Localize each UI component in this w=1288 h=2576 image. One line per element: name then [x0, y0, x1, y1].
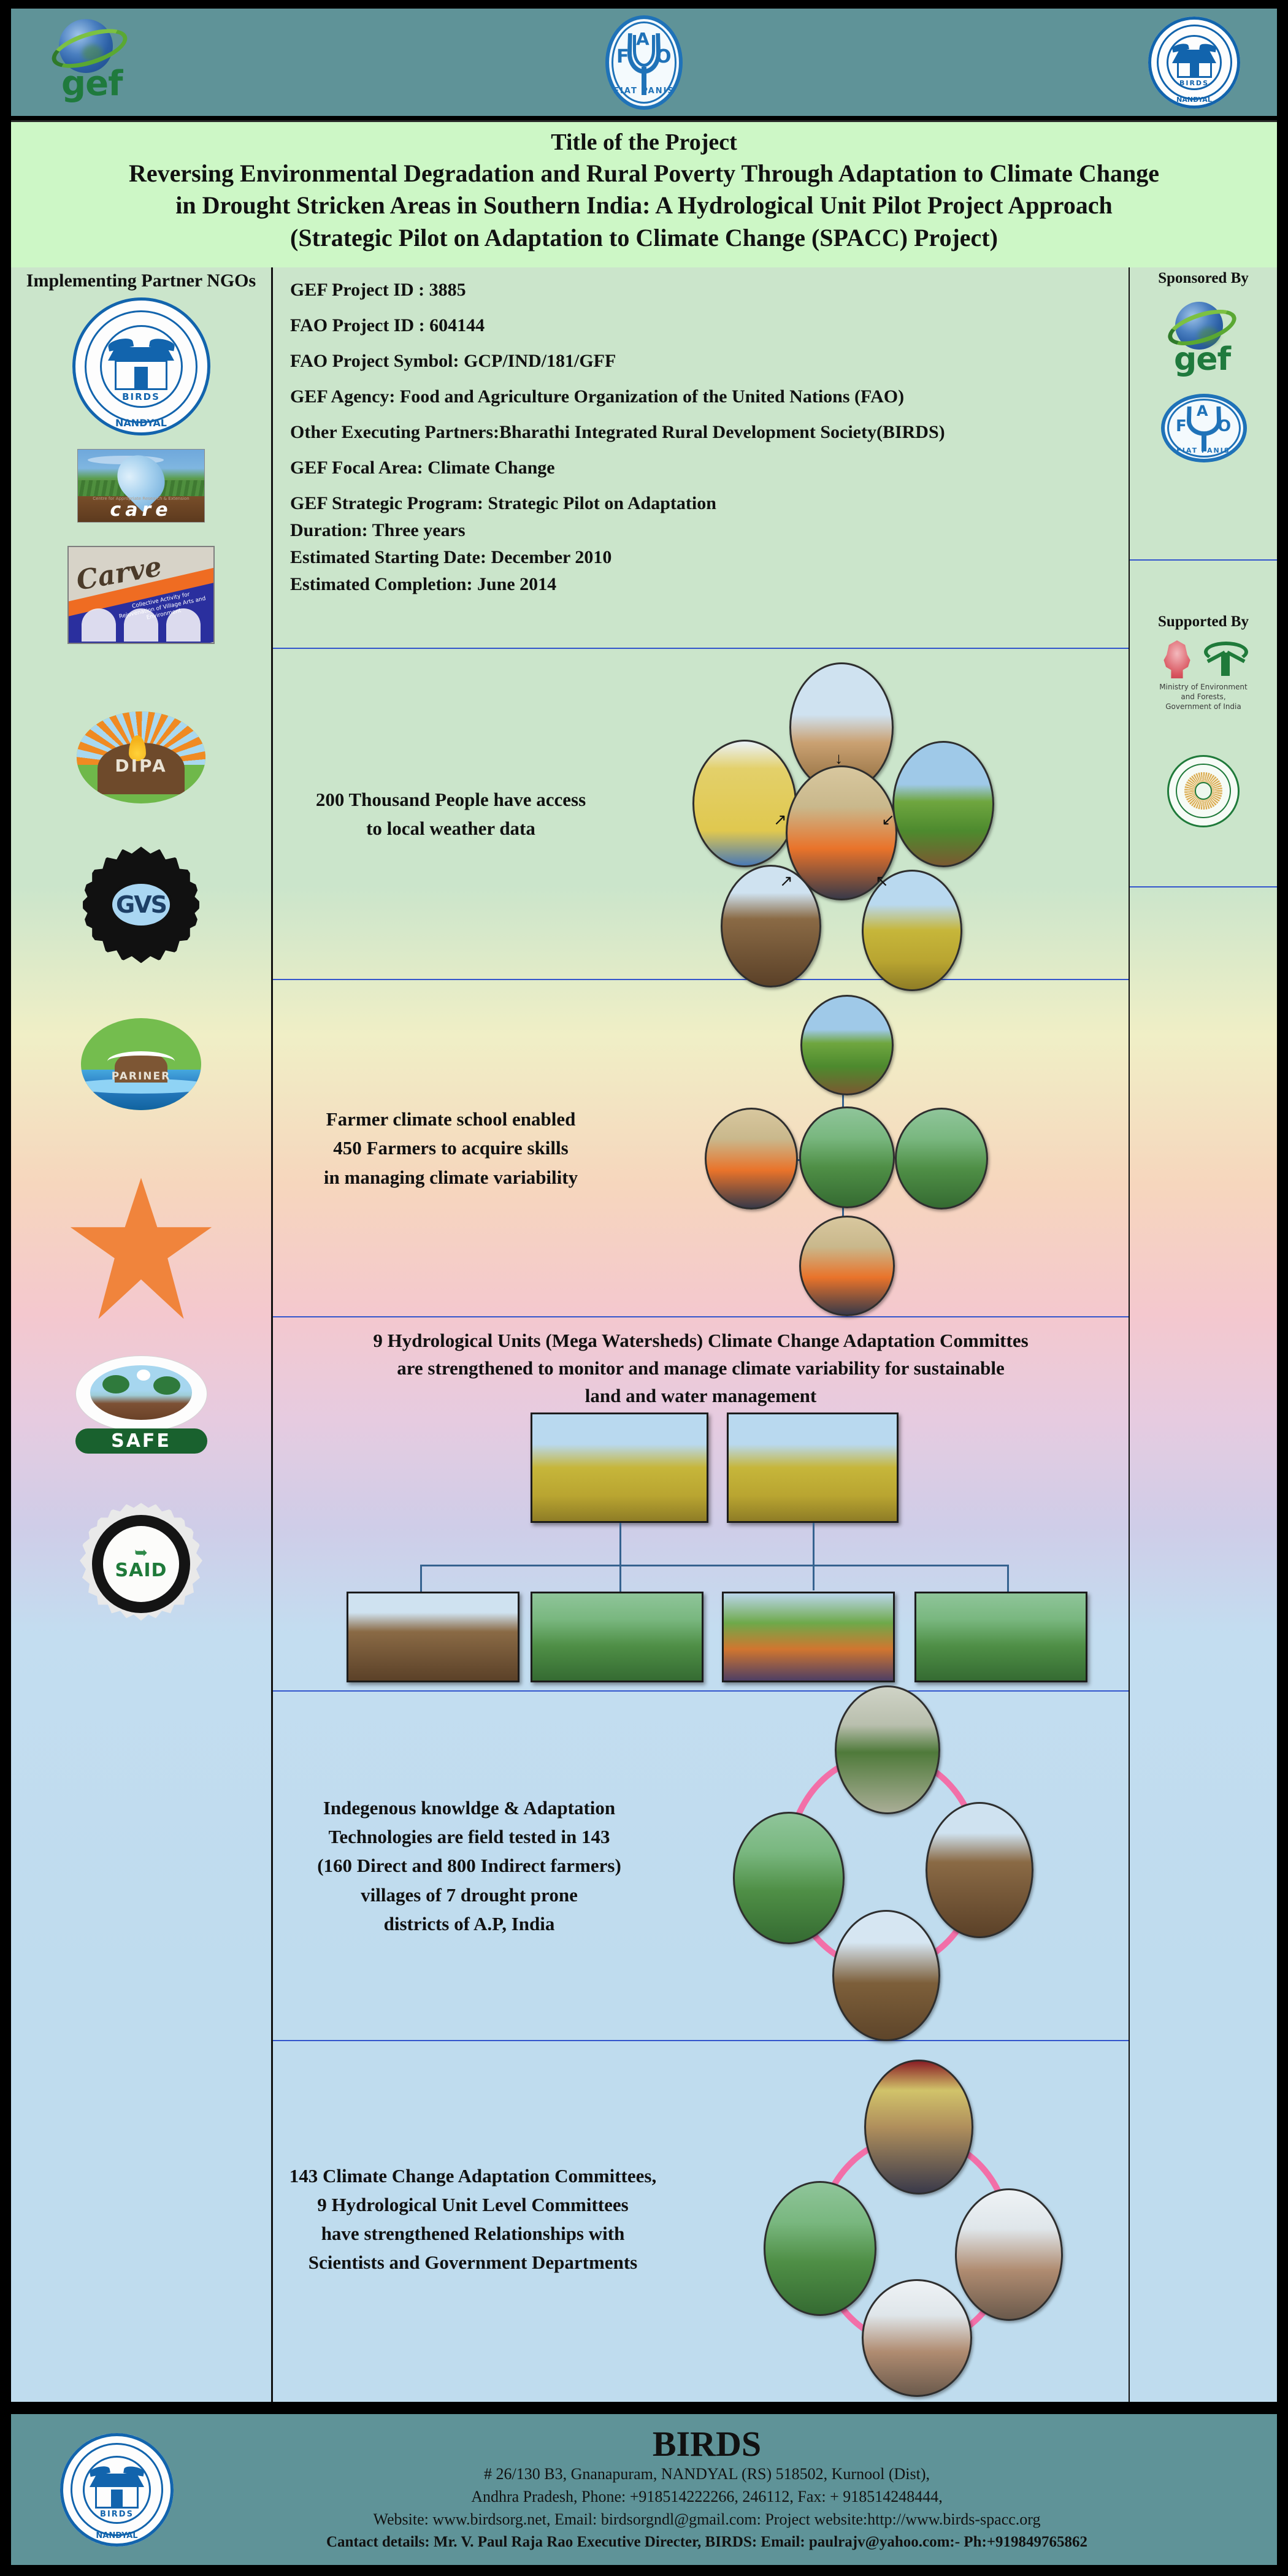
fao-letter-o: O [656, 46, 672, 67]
photo-seed-treatment [926, 1802, 1033, 1938]
indigenous-photo-cluster [665, 1692, 1132, 2041]
supported-by-heading: Supported By [1158, 613, 1249, 631]
footer-address: # 26/130 B3, Gnanapuram, NANDYAL (RS) 51… [174, 2463, 1240, 2486]
arrow-down-icon: ↓ [835, 751, 843, 767]
connector-v1 [619, 1523, 621, 1566]
detail-row: Other Executing Partners:Bharathi Integr… [290, 423, 1129, 442]
photo-water-collection [722, 1592, 895, 1682]
house-roof-icon [108, 347, 174, 361]
panel-text-line: 450 Farmers to acquire skills [279, 1133, 623, 1162]
photo-weather-station-2 [892, 741, 994, 867]
fao-letter-o: O [1217, 417, 1231, 435]
hydro-photo-cluster [273, 1410, 1129, 1674]
panel-text-line: Farmer climate school enabled [279, 1105, 623, 1133]
safe-logo: SAFE [75, 1355, 207, 1454]
said-core: ➥ SAID [103, 1526, 179, 1602]
left-logo-care: Centre for Appropriate Research & Extens… [77, 449, 205, 523]
left-logo-safe: SAFE [75, 1355, 207, 1454]
header-logo-bar: gef F A O FIAT PANIS BIRDS NANDYAL [11, 9, 1277, 116]
fao-letter-a: A [636, 29, 650, 49]
gef-wordmark: gef [1174, 343, 1230, 375]
dipa-wordmark: DIPA [77, 756, 205, 776]
panel-text-line: 9 Hydrological Units (Mega Watersheds) C… [273, 1327, 1129, 1355]
farmer-panel-text: Farmer climate school enabled 450 Farmer… [279, 1105, 623, 1191]
safe-outer-oval [75, 1355, 207, 1432]
detail-row: FAO Project Symbol: GCP/IND/181/GFF [290, 352, 1129, 370]
hydrological-units-panel: 9 Hydrological Units (Mega Watersheds) C… [273, 1317, 1129, 1692]
moef-caption-line-3: Government of India [1159, 702, 1247, 711]
right-gef-logo-wrap: gef [1160, 299, 1246, 385]
sponsored-by-heading: Sponsored By [1158, 270, 1249, 287]
photo-compost-making [347, 1592, 519, 1682]
panel-text-line: 143 Climate Change Adaptation Committees… [277, 2161, 669, 2190]
tree-icon [153, 1376, 180, 1395]
arrow-upright-icon: ↗ [780, 873, 793, 889]
weather-photo-cluster: ↓ ↗ ↙ ↗ ↖ [629, 649, 1095, 980]
star-logo [67, 1178, 215, 1319]
left-logo-pariner: PARINER [81, 1018, 201, 1110]
fao-motto: FIAT PANIS [598, 86, 690, 96]
detail-row: GEF Agency: Food and Agriculture Organiz… [290, 388, 1129, 406]
gvs-wordmark: GVS [110, 881, 173, 928]
photo-weather-board [692, 740, 797, 867]
bird-icon: ➥ [134, 1547, 148, 1560]
seal-location: NANDYAL [60, 2531, 174, 2540]
left-logo-gvs: GVS [83, 846, 199, 963]
left-logo-birds: BIRDS NANDYAL [72, 297, 210, 435]
committees-photo-cluster [678, 2041, 1132, 2397]
left-logo-star [67, 1178, 215, 1319]
right-sidebar-divider-1 [1130, 559, 1277, 561]
moef-caption-line-2: and Forests, [1159, 692, 1247, 702]
farmer-photo-cluster [641, 980, 1107, 1317]
left-sidebar: Implementing Partner NGOs BIRDS NANDYAL [11, 267, 273, 2402]
hydro-panel-text: 9 Hydrological Units (Mega Watersheds) C… [273, 1317, 1129, 1410]
pariner-logo: PARINER [81, 1018, 201, 1110]
body-wrapper: Implementing Partner NGOs BIRDS NANDYAL [11, 267, 1277, 2402]
panel-text-line: (160 Direct and 800 Indirect farmers) [279, 1851, 659, 1880]
environment-tree-icon [1204, 642, 1248, 677]
footer-text-block: BIRDS # 26/130 B3, Gnanapuram, NANDYAL (… [174, 2426, 1277, 2553]
detail-row: Duration: Three years [290, 521, 1129, 540]
farming-scene-icon [90, 1365, 192, 1419]
panel-text-line: 9 Hydrological Unit Level Committees [277, 2190, 669, 2219]
photo-harvest-heap [531, 1413, 708, 1523]
said-wordmark: SAID [115, 1560, 167, 1581]
poster-root: gef F A O FIAT PANIS BIRDS NANDYAL [0, 0, 1288, 2576]
title-line-3: (Strategic Pilot on Adaptation to Climat… [290, 222, 998, 255]
photo-paddy-farmer [914, 1592, 1087, 1682]
moef-caption-line-1: Ministry of Environment [1159, 682, 1247, 692]
photo-training-session [705, 1108, 798, 1209]
panel-text-line: land and water management [273, 1382, 1129, 1410]
person-icon [82, 608, 116, 642]
arrow-upleft-icon: ↖ [875, 873, 889, 889]
panel-text-line: in managing climate variability [279, 1163, 623, 1192]
panel-text-line: to local weather data [279, 814, 623, 843]
moef-logo-row [1159, 640, 1248, 678]
left-logo-carve: Carve Collective Activity for Rejuvenati… [67, 546, 215, 644]
left-logo-dipa: DIPA [77, 711, 205, 803]
photo-farmer-portrait [733, 1812, 845, 1944]
house-door-icon [1190, 63, 1199, 79]
house-door-icon [111, 2490, 123, 2509]
center-column: GEF Project ID : 3885 FAO Project ID : 6… [273, 267, 1130, 2402]
right-sidebar: Sponsored By gef F A [1130, 267, 1277, 2402]
connector-drop-1 [420, 1565, 422, 1594]
adaptation-committees-panel: 143 Climate Change Adaptation Committees… [273, 2041, 1129, 2397]
detail-row: GEF Strategic Program: Strategic Pilot o… [290, 494, 1129, 513]
dipa-logo: DIPA [77, 711, 205, 803]
seal-wordmark: BIRDS [60, 2510, 174, 2519]
panel-text-line: districts of A.P, India [279, 1909, 659, 1938]
right-fao-logo-wrap: F A O FIAT PANIS [1157, 394, 1249, 467]
photo-training-hall [955, 2188, 1063, 2321]
fao-letter-a: A [1197, 402, 1208, 420]
tree-icon [102, 1375, 129, 1393]
gef-wordmark: gef [61, 67, 122, 101]
safe-wordmark: SAFE [75, 1428, 207, 1454]
moef-caption: Ministry of Environment and Forests, Gov… [1159, 682, 1247, 712]
title-label: Title of the Project [551, 128, 737, 158]
detail-row: FAO Project ID : 604144 [290, 316, 1129, 335]
ap-seal-core [1195, 782, 1212, 799]
footer-org-name: BIRDS [174, 2426, 1240, 2463]
birds-seal-sidebar: BIRDS NANDYAL [72, 297, 210, 435]
pariner-wordmark: PARINER [81, 1070, 201, 1083]
seal-wordmark: BIRDS [1148, 79, 1240, 87]
seal-location: NANDYAL [72, 417, 210, 429]
connector-bus [420, 1565, 1009, 1566]
photo-paddy-field [727, 1413, 899, 1523]
seal-wordmark: BIRDS [72, 391, 210, 402]
connector-drop-4 [1007, 1565, 1009, 1594]
detail-row: Estimated Completion: June 2014 [290, 575, 1129, 594]
indigenous-knowledge-panel: Indegenous knowldge & Adaptation Technol… [273, 1692, 1129, 2041]
right-sidebar-divider-2 [1130, 886, 1277, 887]
star-icon [67, 1178, 215, 1319]
arrow-right-icon: ↗ [773, 812, 787, 828]
india-emblem-icon [1159, 640, 1195, 678]
panel-text-line: villages of 7 drought prone [279, 1880, 659, 1909]
title-line-2: in Drought Stricken Areas in Southern In… [175, 190, 1113, 222]
panel-text-line: Indegenous knowldge & Adaptation [279, 1793, 659, 1822]
left-sidebar-heading: Implementing Partner NGOs [11, 270, 271, 291]
photo-ploughed-field [832, 1910, 940, 2041]
photo-field-gathering [800, 995, 894, 1095]
panel-text-line: have strengthened Relationships with [277, 2219, 669, 2248]
farmer-climate-school-panel: Farmer climate school enabled 450 Farmer… [273, 980, 1129, 1317]
fao-letter-f: F [1176, 417, 1187, 435]
indigenous-panel-text: Indegenous knowldge & Adaptation Technol… [279, 1793, 659, 1938]
title-line-1: Reversing Environmental Degradation and … [129, 158, 1159, 190]
panel-text-line: Technologies are field tested in 143 [279, 1822, 659, 1851]
footer-contact[interactable]: Cantact details: Mr. V. Paul Raja Rao Ex… [174, 2531, 1240, 2553]
photo-committee-dais [862, 2279, 972, 2397]
photo-public-meeting [864, 2060, 973, 2195]
fao-logo: F A O FIAT PANIS [598, 14, 690, 111]
connector-drop-2 [619, 1565, 621, 1594]
footer: BIRDS NANDYAL BIRDS # 26/130 B3, Gnanapu… [11, 2414, 1277, 2565]
photo-crop-inspection [895, 1108, 988, 1209]
photo-woman-in-paddy [799, 1106, 895, 1208]
photo-transplanting [531, 1592, 703, 1682]
birds-seal-footer: BIRDS NANDYAL [60, 2433, 174, 2547]
gef-logo: gef [1160, 299, 1246, 385]
photo-rain-gauge-reading [721, 865, 821, 987]
detail-row: GEF Focal Area: Climate Change [290, 459, 1129, 477]
weather-data-panel: 200 Thousand People have access to local… [273, 649, 1129, 980]
detail-row: GEF Project ID : 3885 [290, 281, 1129, 299]
panel-text-line: 200 Thousand People have access [279, 785, 623, 814]
fao-motto: FIAT PANIS [1157, 447, 1249, 454]
connector-v2 [813, 1523, 815, 1590]
footer-phone: Andhra Pradesh, Phone: +918514222266, 24… [174, 2486, 1240, 2509]
left-logo-said: ➥ SAID [80, 1503, 202, 1625]
house-door-icon [134, 367, 148, 390]
andhra-pradesh-seal [1167, 755, 1240, 827]
care-wordmark: care [78, 499, 204, 521]
committees-panel-text: 143 Climate Change Adaptation Committees… [277, 2161, 669, 2277]
panel-text-line: Scientists and Government Departments [277, 2248, 669, 2277]
photo-cotton-field [835, 1685, 940, 1814]
people-arc-icon [107, 1051, 175, 1071]
gef-logo: gef [48, 17, 140, 109]
footer-seal-wrap: BIRDS NANDYAL [60, 2433, 174, 2547]
care-logo: Centre for Appropriate Research & Extens… [77, 449, 205, 523]
fao-letter-f: F [616, 46, 629, 67]
gvs-logo: GVS [83, 846, 199, 963]
seal-location: NANDYAL [1148, 96, 1240, 104]
carve-logo: Carve Collective Activity for Rejuvenati… [67, 546, 215, 644]
footer-website[interactable]: Website: www.birdsorg.net, Email: birdso… [174, 2509, 1240, 2531]
birds-seal-header: BIRDS NANDYAL [1148, 17, 1240, 109]
project-details-panel: GEF Project ID : 3885 FAO Project ID : 6… [273, 267, 1129, 649]
tree-trunk [1221, 653, 1230, 676]
detail-row: Estimated Starting Date: December 2010 [290, 548, 1129, 567]
said-logo: ➥ SAID [80, 1503, 202, 1625]
photo-nursery-group [764, 2181, 876, 2316]
photo-group-discussion [799, 1216, 895, 1316]
panel-text-line: are strengthened to monitor and manage c… [273, 1355, 1129, 1382]
sun-icon [137, 1370, 150, 1381]
arrow-left-icon: ↙ [881, 812, 895, 828]
weather-panel-text: 200 Thousand People have access to local… [279, 785, 623, 843]
title-block: Title of the Project Reversing Environme… [11, 120, 1277, 267]
fao-logo: F A O FIAT PANIS [1157, 394, 1249, 467]
